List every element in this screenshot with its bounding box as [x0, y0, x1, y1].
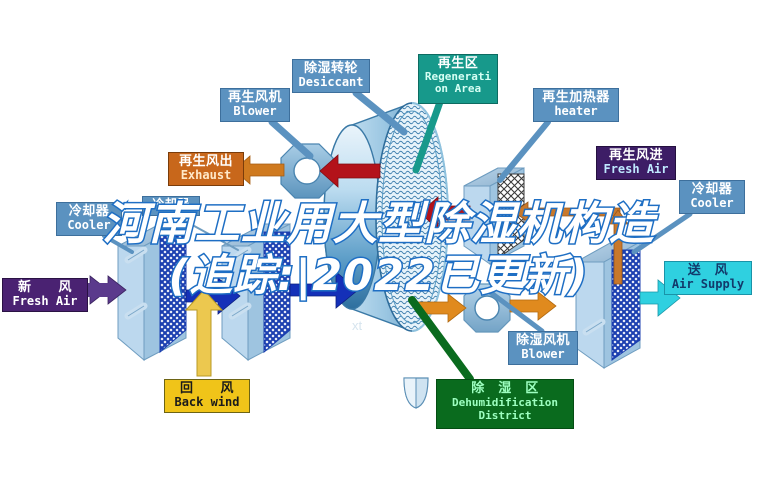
- label-cooler-left[interactable]: 冷却器 Cooler: [56, 202, 122, 236]
- label-regeneration-heater-cn: 再生加热器: [534, 91, 618, 105]
- diagram-canvas: xt: [0, 0, 757, 488]
- label-regeneration-fresh-air-in-cn: 再生风进: [597, 149, 675, 163]
- label-fresh-air-in-en: Fresh Air: [3, 295, 87, 308]
- dehumidifier-schematic: xt: [0, 0, 757, 488]
- label-regeneration-area-en: Regenerati on Area: [419, 71, 497, 96]
- label-regeneration-blower-cn: 再生风机: [221, 91, 289, 105]
- label-back-wind-cn: 回 风: [165, 382, 249, 396]
- svg-text:xt: xt: [352, 318, 363, 333]
- label-desiccant-rotor[interactable]: 除湿转轮 Desiccant: [292, 59, 370, 93]
- label-cooler-right-cn: 冷却器: [680, 183, 744, 197]
- drain-pan: [404, 378, 428, 408]
- label-cooler-left-en: Cooler: [57, 219, 121, 232]
- label-dehumidification-blower[interactable]: 除湿风机 Blower: [508, 331, 578, 365]
- label-regeneration-blower[interactable]: 再生风机 Blower: [220, 88, 290, 122]
- label-air-supply[interactable]: 送 风 Air Supply: [664, 261, 752, 295]
- label-regeneration-area[interactable]: 再生区 Regenerati on Area: [418, 54, 498, 104]
- label-regeneration-heater-en: heater: [534, 105, 618, 118]
- label-regeneration-area-cn: 再生区: [419, 57, 497, 71]
- label-desiccant-rotor-en: Desiccant: [293, 76, 369, 89]
- label-exhaust-en: Exhaust: [169, 169, 243, 182]
- label-dehumidification-district-cn: 除 湿 区: [437, 382, 573, 396]
- label-cooler-right[interactable]: 冷却器 Cooler: [679, 180, 745, 214]
- label-desiccant-rotor-cn: 除湿转轮: [293, 62, 369, 76]
- label-regeneration-blower-en: Blower: [221, 105, 289, 118]
- regeneration-heater-box: [464, 168, 524, 264]
- label-cooler-mid-cn: 冷却器: [143, 198, 199, 211]
- label-dehumidification-blower-en: Blower: [509, 348, 577, 361]
- label-regeneration-fresh-air-in-en: Fresh Air: [597, 163, 675, 176]
- arrow-blower-out: [510, 292, 556, 320]
- label-exhaust[interactable]: 再生风出 Exhaust: [168, 152, 244, 186]
- label-cooler-left-cn: 冷却器: [57, 205, 121, 219]
- label-dehumidification-district-en: Dehumidification District: [437, 396, 573, 422]
- after-cooler-box: [576, 242, 640, 368]
- label-air-supply-en: Air Supply: [665, 278, 751, 291]
- label-cooler-right-en: Cooler: [680, 197, 744, 210]
- label-exhaust-cn: 再生风出: [169, 155, 243, 169]
- label-dehumidification-district[interactable]: 除 湿 区 Dehumidification District: [436, 379, 574, 429]
- cooler-coil-left: [118, 224, 186, 360]
- label-regeneration-heater[interactable]: 再生加热器 heater: [533, 88, 619, 122]
- label-back-wind-en: Back wind: [165, 396, 249, 409]
- dehumidification-blower-housing: [464, 284, 510, 332]
- label-cooler-mid[interactable]: 冷却器: [142, 196, 200, 216]
- arrow-heater-in: [514, 202, 620, 222]
- label-fresh-air-in-cn: 新 风: [3, 281, 87, 295]
- arrow-back-wind-up: [186, 290, 222, 376]
- label-back-wind[interactable]: 回 风 Back wind: [164, 379, 250, 413]
- label-fresh-air-in[interactable]: 新 风 Fresh Air: [2, 278, 88, 312]
- label-air-supply-cn: 送 风: [665, 264, 751, 278]
- label-regeneration-fresh-air-in[interactable]: 再生风进 Fresh Air: [596, 146, 676, 180]
- label-dehumidification-blower-cn: 除湿风机: [509, 334, 577, 348]
